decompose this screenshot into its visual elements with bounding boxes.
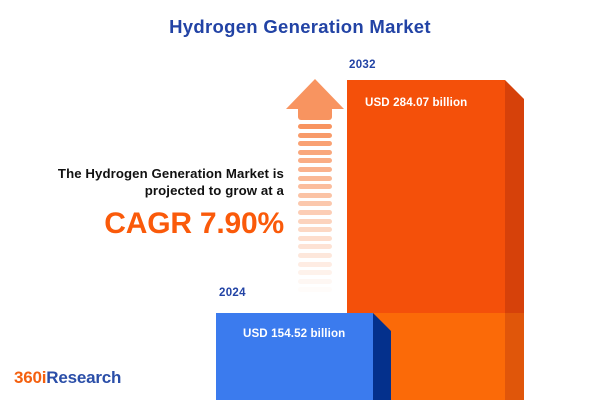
growth-arrow-up-icon [286, 79, 344, 301]
bar-2032-side-lower-segment [505, 313, 524, 400]
arrow-stripe [298, 176, 332, 181]
logo-text-research: Research [46, 368, 121, 387]
bar-value-2024: USD 154.52 billion [243, 327, 345, 340]
bar-value-2032: USD 284.07 billion [365, 96, 467, 109]
arrow-stripe [298, 244, 332, 249]
cagr-value: CAGR 7.90% [14, 207, 284, 241]
arrow-stripe [298, 219, 332, 224]
brand-logo: 360iResearch [14, 368, 121, 388]
arrow-stripe [298, 287, 332, 292]
arrow-stripe [298, 193, 332, 198]
bar-label-year-2032: 2032 [349, 59, 376, 71]
arrow-stripe [298, 210, 332, 215]
arrow-stripe [298, 184, 332, 189]
annotation-line-2: projected to grow at a [14, 182, 284, 199]
page-title: Hydrogen Generation Market [0, 16, 600, 38]
arrow-stripe [298, 262, 332, 267]
arrow-stripe [298, 133, 332, 138]
arrow-stripe [298, 150, 332, 155]
arrow-stripe [298, 304, 332, 309]
arrow-stripe [298, 236, 332, 241]
arrow-stripe [298, 296, 332, 301]
arrow-head-icon [286, 79, 344, 109]
arrow-stripe [298, 124, 332, 129]
arrow-stripe-stack [298, 124, 332, 313]
arrow-stripe [298, 158, 332, 163]
arrow-stripe [298, 279, 332, 284]
arrow-stripe [298, 201, 332, 206]
cagr-annotation: The Hydrogen Generation Market is projec… [14, 165, 284, 241]
arrow-stripe [298, 253, 332, 258]
arrow-stripe [298, 167, 332, 172]
arrow-neck [298, 108, 332, 120]
bar-label-year-2024: 2024 [219, 287, 246, 299]
arrow-stripe [298, 141, 332, 146]
infographic-canvas: Hydrogen Generation Market The Hydrogen … [0, 0, 600, 400]
arrow-stripe [298, 227, 332, 232]
arrow-stripe [298, 270, 332, 275]
annotation-line-1: The Hydrogen Generation Market is [14, 165, 284, 182]
logo-text-360i: 360i [14, 368, 46, 387]
